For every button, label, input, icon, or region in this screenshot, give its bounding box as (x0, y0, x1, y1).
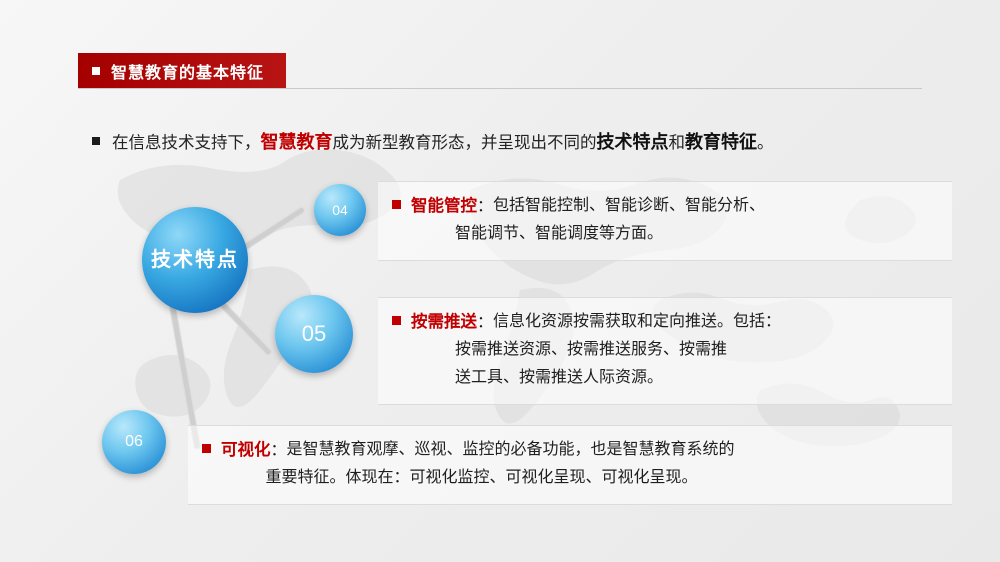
block-05-line-1: 信息化资源按需获取和定向推送。包括： (493, 308, 781, 336)
block-05-body: 信息化资源按需获取和定向推送。包括： 按需推送资源、按需推送服务、按需推 送工具… (493, 308, 781, 392)
block-05-heading: 按需推送 (411, 308, 477, 332)
block-04-heading: 智能管控 (411, 192, 477, 216)
bubble-center-label: 技术特点 (151, 249, 239, 272)
content-block-04: 智能管控 ： 包括智能控制、智能诊断、智能分析、 智能调节、智能调度等方面。 (378, 181, 952, 261)
block-06-colon: ： (271, 436, 287, 460)
block-04-line-2: 智能调节、智能调度等方面。 (455, 220, 765, 248)
block-04-colon: ： (477, 192, 493, 216)
block-05-bullet-icon (392, 316, 401, 325)
lead-text-part1: 在信息技术支持下， (112, 129, 261, 153)
bubble-node-04-label: 04 (332, 202, 348, 218)
block-04-line-1: 包括智能控制、智能诊断、智能分析、 (493, 192, 765, 220)
lead-text-part3: 和 (669, 129, 686, 153)
block-04-body: 包括智能控制、智能诊断、智能分析、 智能调节、智能调度等方面。 (493, 192, 765, 248)
bubble-node-06[interactable]: 06 (102, 410, 166, 474)
lead-text-part4: 。 (757, 129, 774, 153)
section-title-bar: 智慧教育的基本特征 (78, 53, 286, 88)
bubble-node-06-label: 06 (125, 433, 143, 451)
block-06-heading: 可视化 (221, 436, 271, 460)
lead-paragraph: 在信息技术支持下， 智慧教育 成为新型教育形态，并呈现出不同的 技术特点 和 教… (92, 128, 962, 154)
block-06-bullet-icon (202, 444, 211, 453)
lead-text-part2: 成为新型教育形态，并呈现出不同的 (333, 129, 597, 153)
block-05-colon: ： (477, 308, 493, 332)
lead-bullet-icon (92, 137, 100, 145)
lead-highlight-tech-features: 技术特点 (597, 128, 669, 154)
content-block-06: 可视化 ： 是智慧教育观摩、巡视、监控的必备功能，也是智慧教育系统的 重要特征。… (188, 425, 952, 505)
slide: 智慧教育的基本特征 在信息技术支持下， 智慧教育 成为新型教育形态，并呈现出不同… (0, 0, 1000, 562)
block-06-body: 是智慧教育观摩、巡视、监控的必备功能，也是智慧教育系统的 重要特征。体现在：可视… (287, 436, 735, 492)
block-06-line-1: 是智慧教育观摩、巡视、监控的必备功能，也是智慧教育系统的 (287, 436, 735, 464)
block-04-bullet-icon (392, 200, 401, 209)
block-05-line-3: 送工具、按需推送人际资源。 (455, 364, 781, 392)
bubble-center-tech-features[interactable]: 技术特点 (142, 207, 248, 313)
bubble-node-04[interactable]: 04 (314, 184, 366, 236)
title-bullet-icon (92, 67, 100, 75)
block-06-line-2: 重要特征。体现在：可视化监控、可视化呈现、可视化呈现。 (266, 464, 735, 492)
bubble-node-05[interactable]: 05 (275, 295, 353, 373)
block-05-line-2: 按需推送资源、按需推送服务、按需推 (455, 336, 781, 364)
lead-highlight-education-features: 教育特征 (685, 128, 757, 154)
lead-highlight-smart-education: 智慧教育 (261, 128, 333, 154)
title-divider (78, 88, 922, 89)
content-block-05: 按需推送 ： 信息化资源按需获取和定向推送。包括： 按需推送资源、按需推送服务、… (378, 297, 952, 405)
section-title: 智慧教育的基本特征 (111, 59, 264, 83)
bubble-node-05-label: 05 (302, 321, 326, 346)
